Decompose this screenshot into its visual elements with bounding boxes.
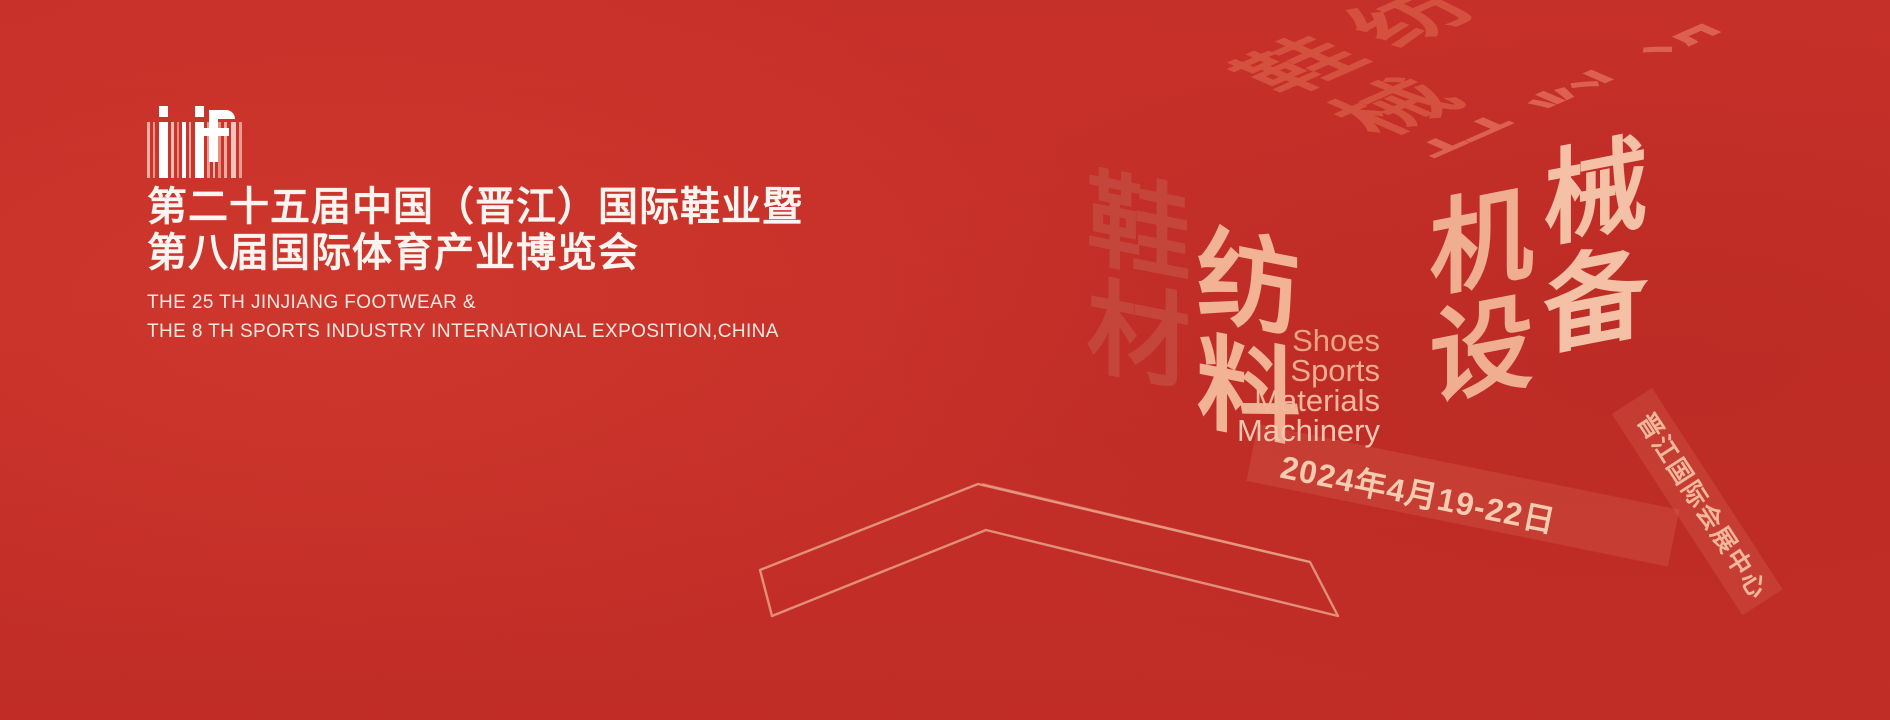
event-identity-block: 第二十五届中国（晋江）国际鞋业暨 第八届国际体育产业博览会 THE 25 TH … (147, 106, 907, 346)
page-title: 第二十五届中国（晋江）国际鞋业暨 第八届国际体育产业博览会 (147, 184, 907, 276)
keyword-sports: Sports (1237, 356, 1380, 386)
subtitle-line-1: THE 25 TH JINJIANG FOOTWEAR & (147, 288, 907, 317)
page-subtitle: THE 25 TH JINJIANG FOOTWEAR & THE 8 TH S… (147, 288, 907, 346)
keyword-shoes: Shoes (1237, 326, 1380, 356)
cube-right-col-1: 机设 (1416, 178, 1526, 415)
cube-right-face: 机设 械备 (1412, 114, 1742, 598)
cube-graphic-block: Shoes Sports Materials Machinery 鞋 纺 机 械… (1040, 40, 1880, 680)
title-line-2: 第八届国际体育产业博览会 (147, 230, 907, 276)
keyword-machinery: Machinery (1237, 416, 1380, 446)
keyword-materials: Materials (1237, 386, 1380, 416)
logo-barcode-bars (147, 122, 247, 178)
isometric-cube: 鞋 纺 机 械 材 料 设 备 鞋材 纺料 机设 械备 2024年4月19-22… (1040, 50, 1880, 670)
title-line-1: 第二十五届中国（晋江）国际鞋业暨 (147, 184, 907, 230)
keyword-list: Shoes Sports Materials Machinery (1237, 326, 1380, 446)
cube-left-col-1: 鞋材 (1073, 159, 1183, 396)
cube-right-col-2: 械备 (1530, 128, 1640, 365)
subtitle-line-2: THE 8 TH SPORTS INDUSTRY INTERNATIONAL E… (147, 317, 907, 346)
logo-f-hook (209, 110, 235, 119)
jjif-barcode-logo (147, 106, 247, 178)
logo-f-crossbar (199, 128, 229, 136)
